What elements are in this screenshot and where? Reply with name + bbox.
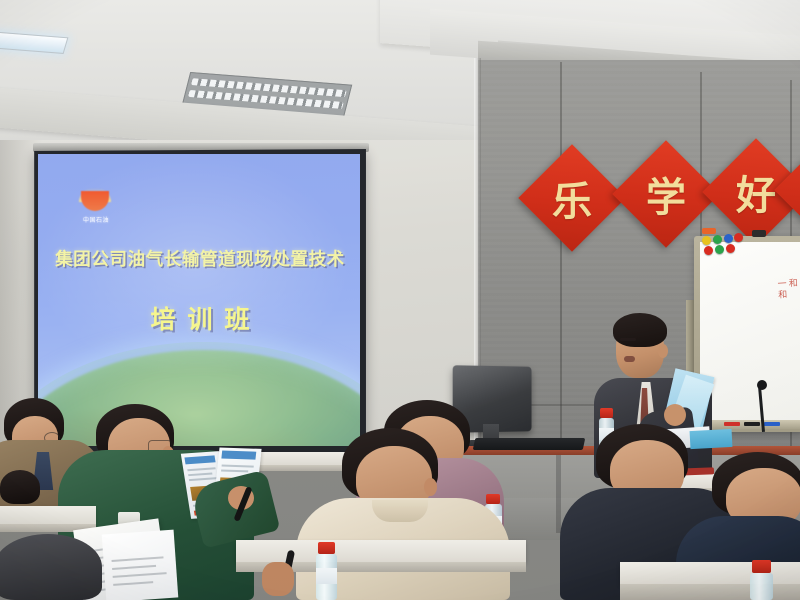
plaque-character: 学 bbox=[628, 156, 704, 232]
desk-leg bbox=[556, 455, 561, 533]
presenter-ear bbox=[658, 344, 668, 358]
bottle-cap bbox=[318, 542, 335, 554]
photograph-scene: 中国石油 集团公司油气长输管道现场处置技术 培训班 乐 学 好 学 一 和 1 … bbox=[0, 0, 800, 600]
magnet-blue-icon[interactable] bbox=[724, 234, 733, 243]
keyboard[interactable] bbox=[473, 438, 586, 450]
bottle-cap bbox=[752, 560, 771, 573]
marker-red-icon[interactable] bbox=[724, 422, 740, 426]
attendee-ear bbox=[424, 478, 437, 496]
blue-folder bbox=[690, 429, 733, 449]
whiteboard-clip[interactable] bbox=[752, 230, 766, 237]
bottle-cap bbox=[486, 494, 500, 504]
whiteboard-clip[interactable] bbox=[702, 228, 716, 234]
magnet-red-icon[interactable] bbox=[734, 233, 743, 242]
petrochina-logo-icon: 中国石油 bbox=[74, 176, 116, 228]
projection-screen: 中国石油 集团公司油气长输管道现场处置技术 培训班 bbox=[38, 154, 360, 446]
audience-table bbox=[236, 540, 526, 562]
whiteboard-surface bbox=[700, 242, 800, 422]
attendee-collar bbox=[372, 500, 428, 522]
presenter-hand bbox=[664, 404, 686, 426]
water-bottle bbox=[750, 573, 773, 600]
magnet-green-icon[interactable] bbox=[713, 235, 722, 244]
attendee-hair bbox=[0, 470, 40, 504]
table-edge bbox=[620, 584, 800, 600]
wall-plaque: 乐 bbox=[518, 144, 625, 251]
magnet-red-icon[interactable] bbox=[726, 244, 735, 253]
bottle-label bbox=[316, 568, 337, 584]
attendee-head-foreground bbox=[0, 534, 102, 600]
slide-title: 集团公司油气长输管道现场处置技术 bbox=[44, 246, 356, 271]
presenter-mouth bbox=[624, 356, 635, 362]
slide-subtitle: 培训班 bbox=[44, 300, 356, 336]
magnet-red-icon[interactable] bbox=[704, 246, 713, 255]
logo-text: 中国石油 bbox=[74, 215, 118, 224]
magnet-green-icon[interactable] bbox=[715, 245, 724, 254]
plaque-character: 乐 bbox=[534, 160, 610, 236]
whiteboard-handwriting: 一 和 1 和 bbox=[777, 277, 800, 305]
plaque-character: 学 bbox=[790, 152, 800, 228]
audience-table bbox=[0, 506, 96, 524]
attendee-hand bbox=[262, 562, 294, 596]
magnet-yellow-icon[interactable] bbox=[702, 236, 711, 245]
paper-stack bbox=[102, 530, 179, 600]
presenter-eyebrow bbox=[620, 338, 636, 341]
bottle-cap bbox=[600, 408, 613, 418]
presenter-hair bbox=[613, 313, 667, 347]
microphone-icon bbox=[757, 380, 767, 390]
marker-black-icon[interactable] bbox=[744, 422, 760, 426]
marker-blue-icon[interactable] bbox=[764, 422, 780, 426]
audience-table bbox=[620, 562, 800, 584]
